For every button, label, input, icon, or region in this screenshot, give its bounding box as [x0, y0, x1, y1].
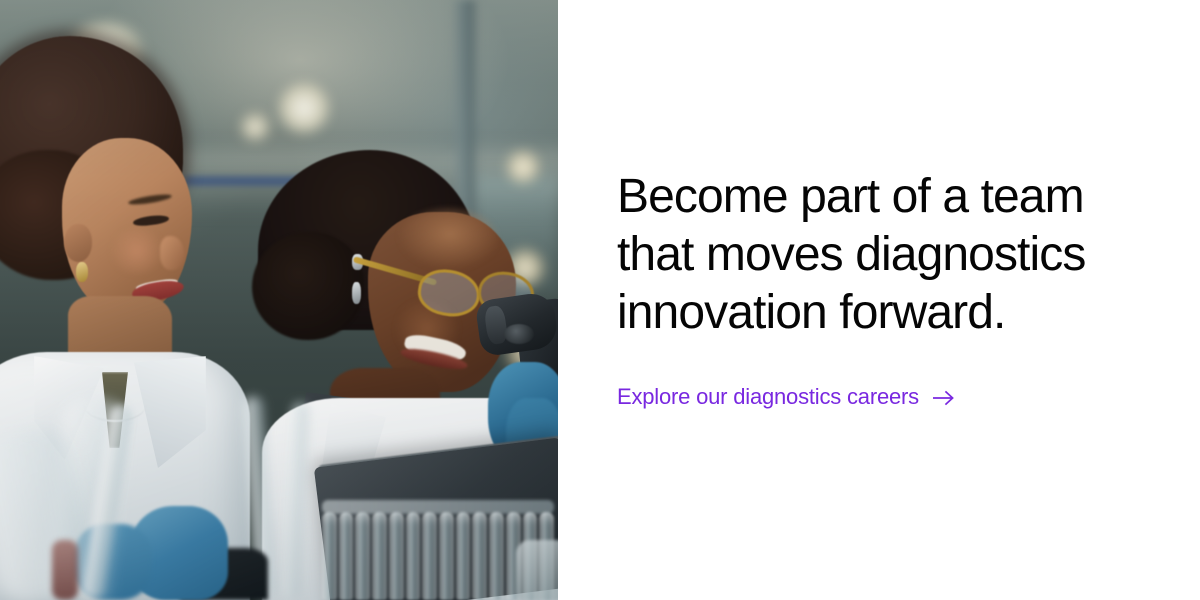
test-tube: [372, 512, 387, 600]
headline-line-3: innovation forward.: [617, 284, 1177, 342]
test-tube: [422, 512, 437, 600]
test-tube: [406, 512, 421, 600]
test-tube: [339, 512, 354, 600]
lab-photo: [0, 0, 558, 600]
content-panel: Become part of a team that moves diagnos…: [558, 0, 1200, 600]
cta-label: Explore our diagnostics careers: [617, 383, 919, 411]
scientist-right-hair-bun: [252, 232, 364, 340]
sample-vial: [52, 540, 78, 600]
beaker: [516, 540, 558, 600]
headline-line-2: that moves diagnostics: [617, 226, 1177, 284]
arrow-right-icon: [932, 388, 955, 408]
bokeh-light: [240, 112, 270, 142]
scientist-left-cheek: [108, 228, 166, 274]
scientist-right-earring: [352, 282, 361, 304]
hero-banner: Become part of a team that moves diagnos…: [0, 0, 1200, 600]
scientist-left-earring: [76, 262, 88, 282]
test-tube: [322, 512, 337, 600]
test-tube: [489, 512, 504, 600]
scientist-right-forehead: [398, 208, 498, 270]
bokeh-light: [278, 82, 330, 134]
test-tube: [389, 512, 404, 600]
test-tube: [355, 512, 370, 600]
test-tube: [456, 512, 471, 600]
page-title: Become part of a team that moves diagnos…: [617, 168, 1177, 342]
test-tube: [472, 512, 487, 600]
bokeh-light: [506, 150, 540, 184]
explore-careers-link[interactable]: Explore our diagnostics careers: [617, 383, 955, 411]
headline-line-1: Become part of a team: [617, 168, 1177, 226]
test-tube: [439, 512, 454, 600]
microscope-knob: [504, 324, 534, 344]
scientist-left-nose: [160, 236, 184, 270]
scientist-left-ear: [64, 224, 92, 262]
